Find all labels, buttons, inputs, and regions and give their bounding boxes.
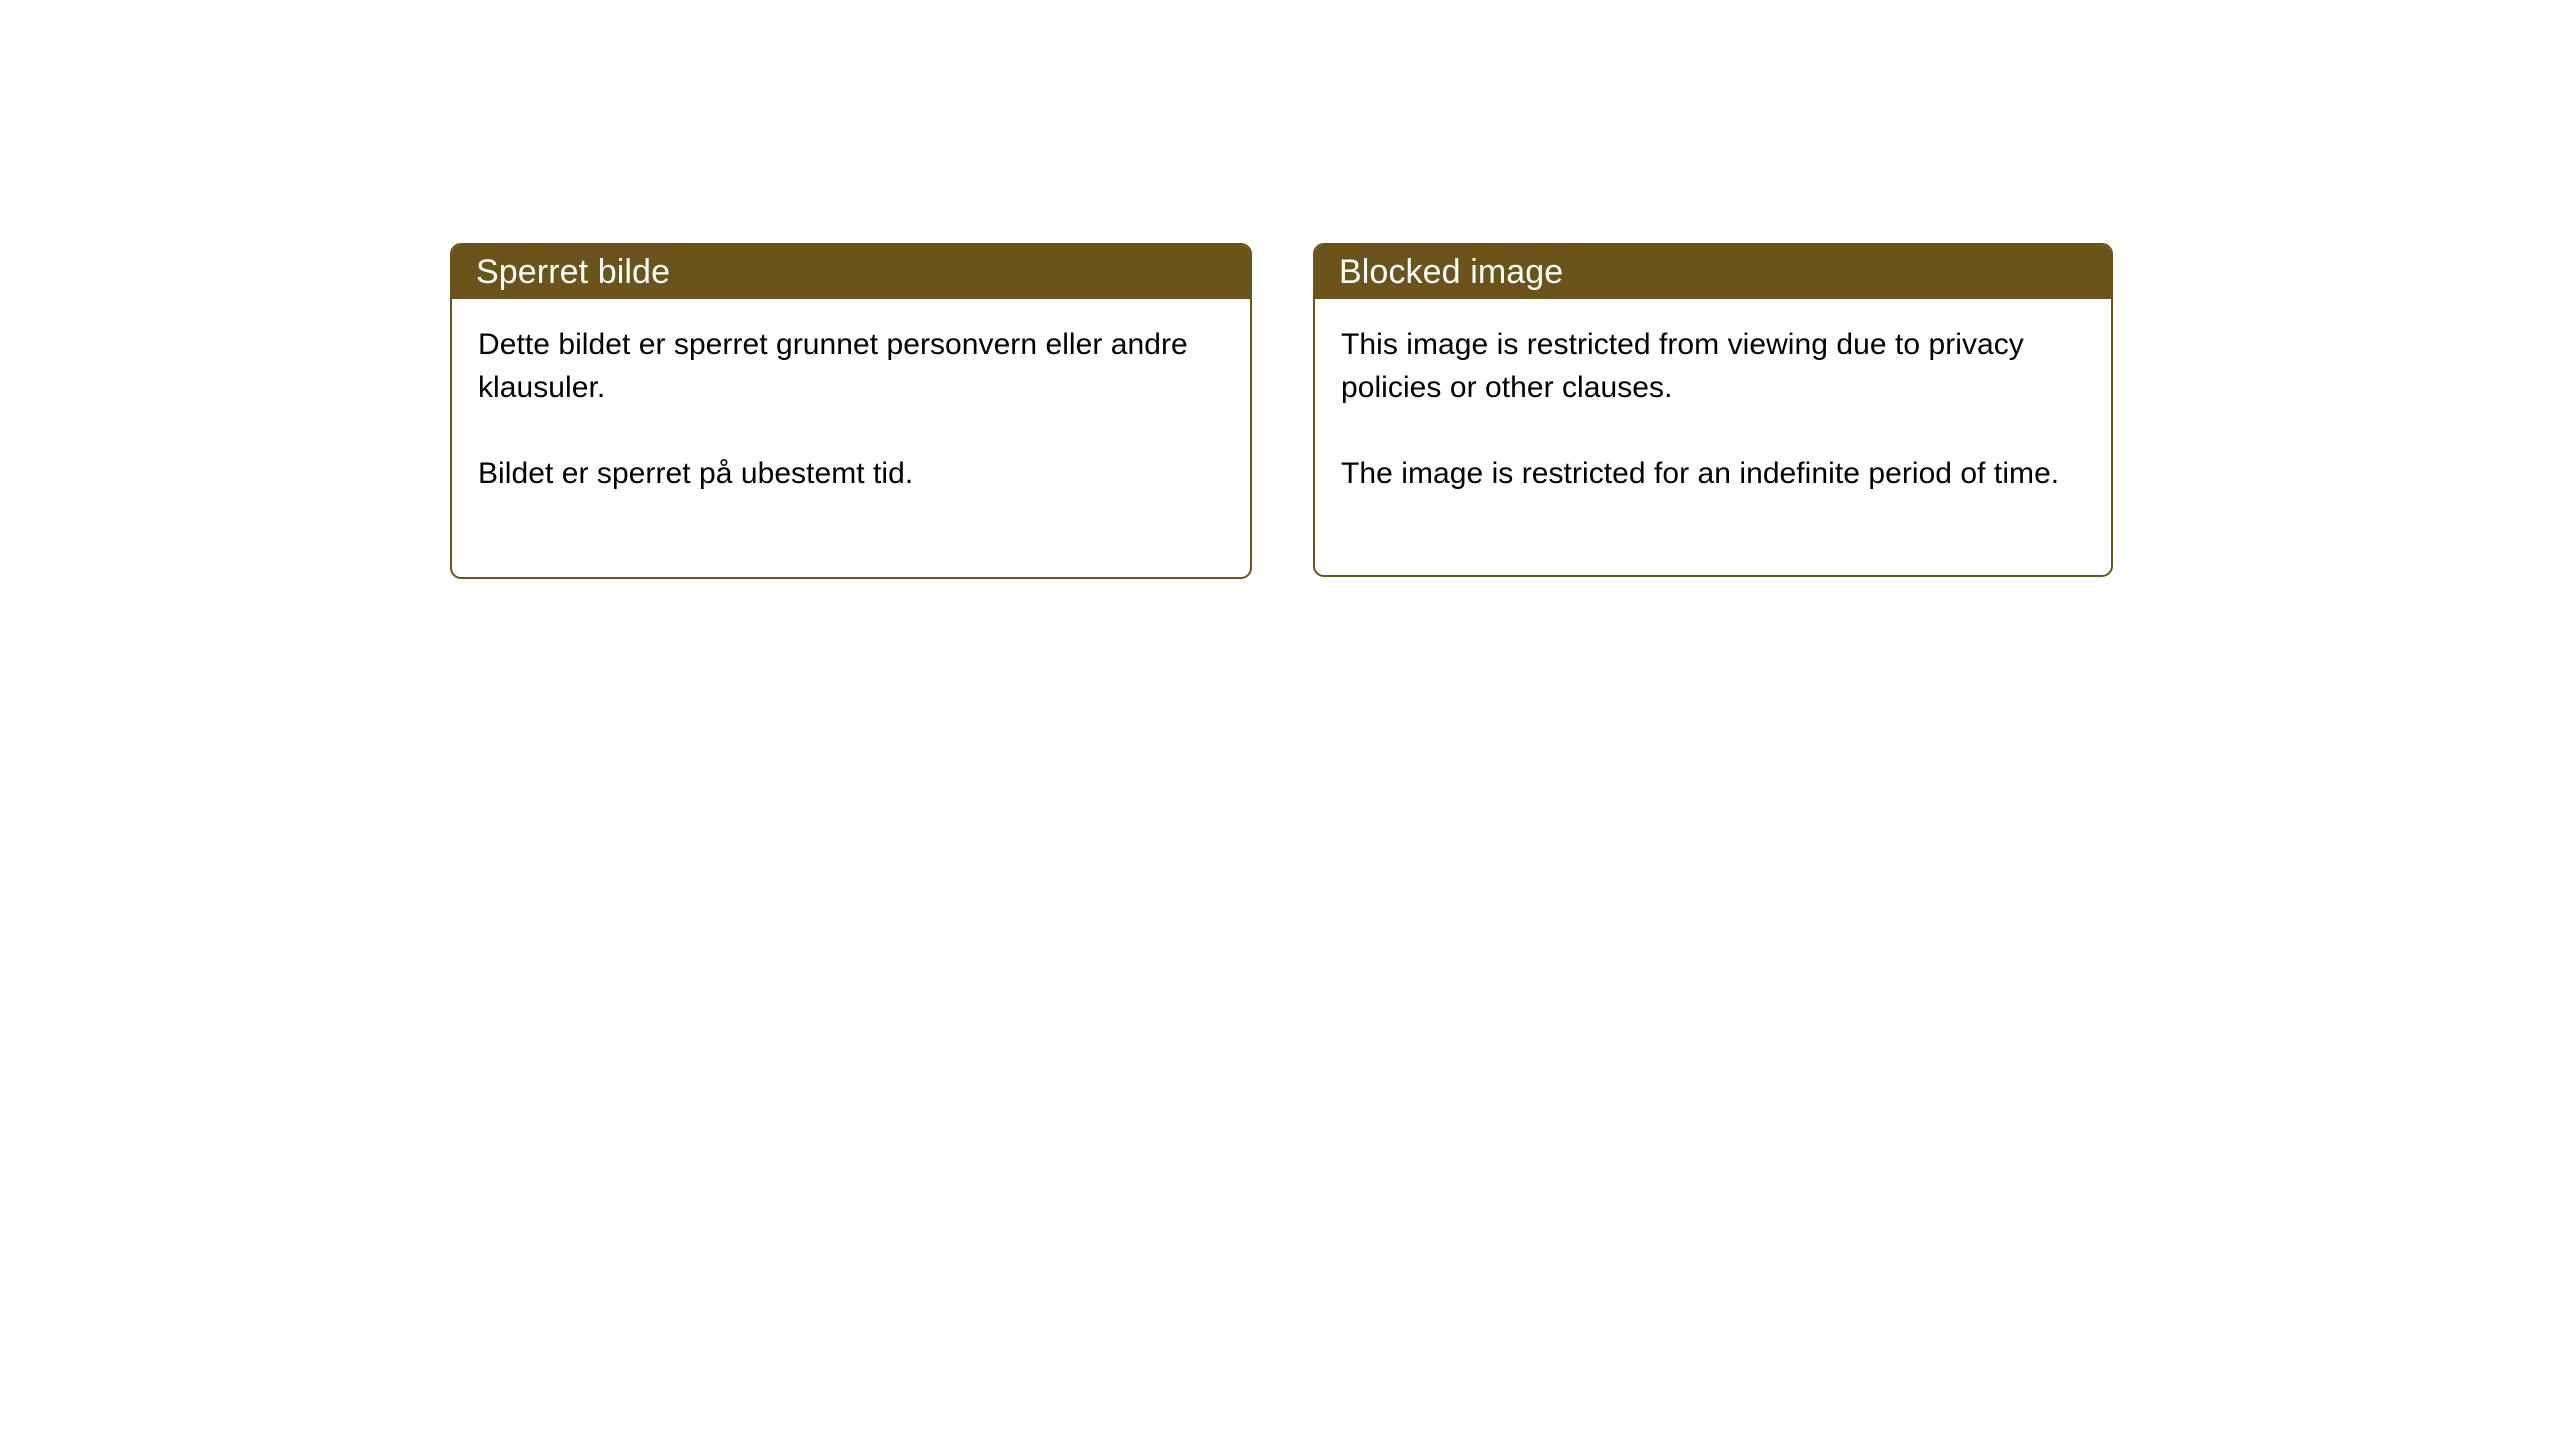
panel-body-norwegian: Dette bildet er sperret grunnet personve… — [452, 299, 1250, 495]
blocked-image-notice-panel-english: Blocked image This image is restricted f… — [1313, 243, 2113, 577]
notice-paragraph-primary-norwegian: Dette bildet er sperret grunnet personve… — [478, 323, 1228, 409]
blocked-image-notice-panel-norwegian: Sperret bilde Dette bildet er sperret gr… — [450, 243, 1252, 579]
notice-paragraph-primary-english: This image is restricted from viewing du… — [1341, 323, 2089, 409]
notice-paragraph-secondary-norwegian: Bildet er sperret på ubestemt tid. — [478, 452, 1228, 495]
panel-body-english: This image is restricted from viewing du… — [1315, 299, 2111, 495]
panel-title-norwegian: Sperret bilde — [476, 252, 670, 292]
panel-header-english: Blocked image — [1314, 244, 2112, 299]
panel-header-norwegian: Sperret bilde — [451, 244, 1251, 299]
panel-title-english: Blocked image — [1339, 252, 1563, 292]
page-canvas: Sperret bilde Dette bildet er sperret gr… — [0, 0, 2560, 1440]
notice-paragraph-secondary-english: The image is restricted for an indefinit… — [1341, 452, 2089, 495]
